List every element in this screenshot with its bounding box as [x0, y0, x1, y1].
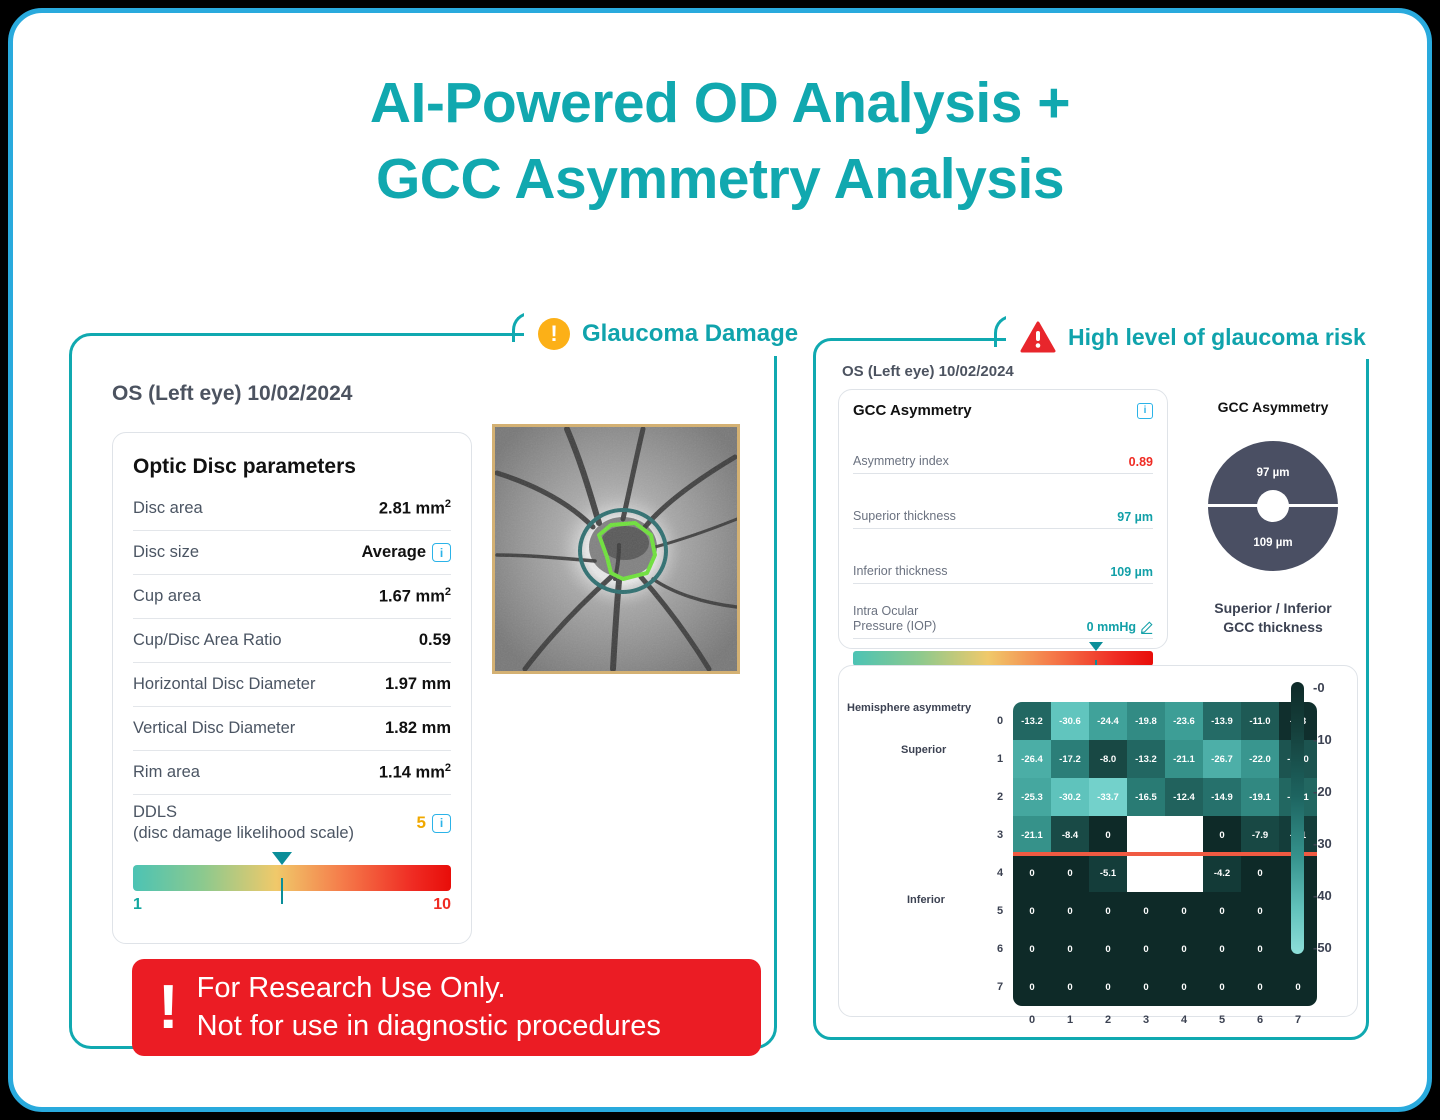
ddls-gradient-slider[interactable]	[133, 865, 451, 891]
heatmap-cell[interactable]: -5.1	[1089, 854, 1127, 892]
right-panel-tab-label: High level of glaucoma risk	[1068, 324, 1366, 351]
heatmap-cell[interactable]: -12.4	[1165, 778, 1203, 816]
gcc-metric-row: Superior thickness97 µm	[853, 474, 1153, 529]
parameter-value: 1.14 mm2	[379, 762, 451, 783]
parameter-value: Average	[361, 543, 426, 562]
left-panel-tab[interactable]: ! Glaucoma Damage	[524, 312, 812, 356]
info-icon-disc-size[interactable]: i	[432, 543, 451, 562]
gcc-metric-value: 0 mmHg	[1087, 620, 1136, 634]
left-eye-date: OS (Left eye) 10/02/2024	[112, 382, 352, 406]
heatmap-cell[interactable]: -8.4	[1051, 816, 1089, 854]
ddls-scale-min: 1	[133, 896, 142, 914]
heatmap-cell[interactable]: 0	[1013, 930, 1051, 968]
gcc-metric-label: Inferior thickness	[853, 564, 947, 579]
parameter-value-group: 0.59	[419, 631, 451, 650]
app-canvas: AI-Powered OD Analysis + GCC Asymmetry A…	[8, 8, 1432, 1112]
heatmap-cell[interactable]: 0	[1127, 892, 1165, 930]
heatmap-cell[interactable]: -19.8	[1127, 702, 1165, 740]
parameter-value-group: 2.81 mm2	[379, 498, 451, 519]
gcc-metric-list: Asymmetry index0.89Superior thickness97 …	[853, 419, 1153, 639]
parameter-value: 0.59	[419, 631, 451, 650]
donut-caption-line-2: GCC thickness	[1188, 618, 1358, 637]
optic-disc-card-title: Optic Disc parameters	[133, 455, 451, 479]
fundus-image-graphic	[495, 427, 737, 671]
optic-disc-parameter-row: Cup/Disc Area Ratio0.59	[133, 619, 451, 663]
heatmap-row-label: 3	[987, 816, 1013, 854]
parameter-unit-exponent: 2	[445, 586, 451, 598]
parameter-label: Rim area	[133, 763, 200, 782]
optic-disc-parameters-card: Optic Disc parameters Disc area2.81 mm2D…	[112, 432, 472, 944]
gcc-card-header: GCC Asymmetry i	[853, 402, 1153, 419]
heatmap-cell[interactable]: -4.2	[1203, 854, 1241, 892]
heatmap-cell[interactable]: -21.1	[1013, 816, 1051, 854]
ddls-label-line-2: (disc damage likelihood scale)	[133, 823, 354, 844]
heatmap-cell[interactable]: 0	[1241, 854, 1279, 892]
parameter-value-group: 1.97 mm	[385, 675, 451, 694]
heatmap-cell[interactable]: -8.0	[1089, 740, 1127, 778]
heatmap-column-label: 2	[1089, 1010, 1127, 1030]
heatmap-inferior-label: Inferior	[907, 894, 945, 906]
ddls-value-group: 5 i	[417, 813, 451, 833]
parameter-value-group: 1.82 mm	[385, 719, 451, 738]
page-title-line-1: AI-Powered OD Analysis +	[13, 65, 1427, 141]
colorbar-tick-label: -40	[1313, 888, 1332, 903]
optic-disc-parameter-row: Disc area2.81 mm2	[133, 487, 451, 531]
heatmap-cell[interactable]: -21.1	[1165, 740, 1203, 778]
optic-disc-parameter-list: Disc area2.81 mm2Disc sizeAverageiCup ar…	[133, 487, 451, 795]
heatmap-cell[interactable]: -14.9	[1203, 778, 1241, 816]
heatmap-cell[interactable]: 0	[1089, 968, 1127, 1006]
heatmap-row-label: 7	[987, 968, 1013, 1006]
ddls-scale-ends: 1 10	[133, 896, 451, 914]
gcc-metric-value: 97 µm	[1117, 510, 1153, 524]
optic-disc-parameter-row: Rim area1.14 mm2	[133, 751, 451, 795]
heatmap-column-label: 4	[1165, 1010, 1203, 1030]
superior-inferior-divider	[1013, 852, 1317, 856]
gcc-slider-marker[interactable]	[1089, 642, 1103, 651]
heatmap-cell[interactable]: 0	[1013, 892, 1051, 930]
superior-inferior-donut-chart[interactable]: 97 µm 109 µm	[1208, 441, 1338, 571]
heatmap-cell[interactable]: 0	[1203, 892, 1241, 930]
right-panel-tab[interactable]: High level of glaucoma risk	[1006, 315, 1380, 359]
gcc-metric-row: Asymmetry index0.89	[853, 419, 1153, 474]
heatmap-cell[interactable]: 0	[1051, 892, 1089, 930]
colorbar-tick-label: -0	[1313, 680, 1325, 695]
left-panel-tab-label: Glaucoma Damage	[582, 320, 798, 348]
ddls-label-line-1: DDLS	[133, 802, 354, 823]
gcc-metric-value-group: 0.89	[1129, 455, 1153, 469]
heatmap-cell[interactable]: 0	[1089, 892, 1127, 930]
right-eye-date: OS (Left eye) 10/02/2024	[842, 363, 1014, 380]
gcc-metric-value: 0.89	[1129, 455, 1153, 469]
glaucoma-risk-panel: High level of glaucoma risk OS (Left eye…	[813, 338, 1369, 1040]
heatmap-row-label: 2	[987, 778, 1013, 816]
heatmap-cell[interactable]: 0	[1051, 854, 1089, 892]
parameter-label: Disc area	[133, 499, 203, 518]
heatmap-cell[interactable]: 0	[1051, 930, 1089, 968]
heatmap-superior-label: Superior	[901, 744, 946, 756]
info-icon-gcc[interactable]: i	[1137, 403, 1153, 419]
donut-caption: Superior / Inferior GCC thickness	[1188, 599, 1358, 637]
heatmap-hemisphere-label: Hemisphere asymmetry	[847, 702, 971, 714]
parameter-value: 2.81 mm2	[379, 498, 451, 519]
heatmap-cell[interactable]: -26.4	[1013, 740, 1051, 778]
parameter-label: Disc size	[133, 543, 199, 562]
heatmap-cell[interactable]: 0	[1203, 930, 1241, 968]
colorbar-tick-label: -30	[1313, 836, 1332, 851]
heatmap-cell[interactable]: 0	[1203, 968, 1241, 1006]
heatmap-cell[interactable]: -19.1	[1241, 778, 1279, 816]
parameter-label: Cup area	[133, 587, 201, 606]
page-title-line-2: GCC Asymmetry Analysis	[13, 141, 1427, 217]
parameter-label: Cup/Disc Area Ratio	[133, 631, 282, 650]
glaucoma-damage-panel: ! Glaucoma Damage OS (Left eye) 10/02/20…	[69, 333, 777, 1049]
heatmap-cell[interactable]: 0	[1127, 930, 1165, 968]
ddls-slider-marker[interactable]	[272, 852, 292, 865]
heatmap-cell[interactable]: 0	[1013, 968, 1051, 1006]
info-icon-ddls[interactable]: i	[432, 814, 451, 833]
gcc-metric-row: Intra OcularPressure (IOP)0 mmHg	[853, 584, 1153, 639]
heatmap-cell[interactable]: -23.6	[1165, 702, 1203, 740]
ddls-row: DDLS (disc damage likelihood scale) 5 i	[133, 795, 451, 851]
pencil-edit-icon[interactable]	[1140, 621, 1153, 634]
gcc-metric-value-group: 97 µm	[1117, 510, 1153, 524]
heatmap-row-label: 4	[987, 854, 1013, 892]
heatmap-column-label: 5	[1203, 1010, 1241, 1030]
heatmap-row-label: 5	[987, 892, 1013, 930]
gcc-metric-value-group: 109 µm	[1110, 565, 1153, 579]
heatmap-cell[interactable]: -33.7	[1089, 778, 1127, 816]
gcc-metric-value: 109 µm	[1110, 565, 1153, 579]
research-use-line-2: Not for use in diagnostic procedures	[197, 1008, 661, 1045]
heatmap-cell[interactable]: 0	[1241, 930, 1279, 968]
optic-disc-parameter-row: Vertical Disc Diameter1.82 mm	[133, 707, 451, 751]
donut-title: GCC Asymmetry	[1188, 399, 1358, 415]
heatmap-cell[interactable]: -25.3	[1013, 778, 1051, 816]
heatmap-cell[interactable]: 0	[1279, 968, 1317, 1006]
ddls-label: DDLS (disc damage likelihood scale)	[133, 802, 354, 843]
heatmap-cell[interactable]: -30.2	[1051, 778, 1089, 816]
ddls-value: 5	[417, 813, 426, 833]
heatmap-cell[interactable]: -24.4	[1089, 702, 1127, 740]
heatmap-cell[interactable]: 0	[1203, 816, 1241, 854]
heatmap-cell[interactable]: -16.5	[1127, 778, 1165, 816]
hemisphere-asymmetry-heatmap-card: Hemisphere asymmetry Superior Inferior -…	[838, 665, 1358, 1017]
optic-disc-parameter-row: Horizontal Disc Diameter1.97 mm	[133, 663, 451, 707]
heatmap-cell[interactable]: 0	[1165, 892, 1203, 930]
heatmap-column-label: 7	[1279, 1010, 1317, 1030]
gcc-donut-section: GCC Asymmetry 97 µm 109 µm Superior / In…	[1188, 399, 1358, 637]
parameter-value: 1.67 mm2	[379, 586, 451, 607]
heatmap-cell[interactable]: 0	[1241, 968, 1279, 1006]
heatmap-cell[interactable]: -11.0	[1241, 702, 1279, 740]
heatmap-cell[interactable]: -13.2	[1127, 740, 1165, 778]
colorbar-tick-label: -20	[1313, 784, 1332, 799]
gcc-metric-label: Intra OcularPressure (IOP)	[853, 604, 936, 634]
heatmap-column-label: 3	[1127, 1010, 1165, 1030]
donut-caption-line-1: Superior / Inferior	[1188, 599, 1358, 618]
heatmap-cell[interactable]: -30.6	[1051, 702, 1089, 740]
heatmap-row-label: 1	[987, 740, 1013, 778]
optic-disc-parameter-row: Cup area1.67 mm2	[133, 575, 451, 619]
warning-triangle-icon	[1020, 321, 1056, 353]
exclamation-mark-icon: !	[158, 983, 179, 1033]
exclamation-circle-icon: !	[538, 318, 570, 350]
ddls-scale-max: 10	[433, 896, 451, 914]
parameter-value-group: Averagei	[361, 543, 451, 562]
heatmap-cell[interactable]: -22.0	[1241, 740, 1279, 778]
gcc-card-title: GCC Asymmetry	[853, 402, 972, 419]
parameter-unit-exponent: 2	[445, 498, 451, 510]
heatmap-cell[interactable]: 0	[1089, 930, 1127, 968]
donut-center-hole	[1257, 490, 1289, 522]
parameter-label: Horizontal Disc Diameter	[133, 675, 315, 694]
donut-inferior-value: 109 µm	[1208, 537, 1338, 549]
gcc-metric-label: Superior thickness	[853, 509, 956, 524]
heatmap-cell[interactable]: -13.2	[1013, 702, 1051, 740]
gcc-risk-gradient-slider[interactable]	[853, 651, 1153, 666]
colorbar-tick-label: -10	[1313, 732, 1332, 747]
heatmap-column-label: 0	[1013, 1010, 1051, 1030]
research-use-line-1: For Research Use Only.	[197, 970, 661, 1007]
parameter-value-group: 1.14 mm2	[379, 762, 451, 783]
gcc-metric-row: Inferior thickness109 µm	[853, 529, 1153, 584]
heatmap-cell[interactable]: 0	[1013, 854, 1051, 892]
parameter-value: 1.97 mm	[385, 675, 451, 694]
heatmap-cell[interactable]: 0	[1165, 968, 1203, 1006]
heatmap-cell[interactable]: 0	[1241, 892, 1279, 930]
heatmap-cell[interactable]: -7.9	[1241, 816, 1279, 854]
parameter-value-group: 1.67 mm2	[379, 586, 451, 607]
heatmap-cell[interactable]: 0	[1089, 816, 1127, 854]
heatmap-cell[interactable]: 0	[1051, 968, 1089, 1006]
gcc-metric-value-group: 0 mmHg	[1087, 620, 1153, 634]
heatmap-cell[interactable]: -13.9	[1203, 702, 1241, 740]
fundus-image[interactable]	[492, 424, 740, 674]
heatmap-row-label: 0	[987, 702, 1013, 740]
heatmap-cell[interactable]: -17.2	[1051, 740, 1089, 778]
parameter-label: Vertical Disc Diameter	[133, 719, 295, 738]
heatmap-cell[interactable]: -26.7	[1203, 740, 1241, 778]
heatmap-column-label: 6	[1241, 1010, 1279, 1030]
parameter-value: 1.82 mm	[385, 719, 451, 738]
donut-superior-value: 97 µm	[1208, 467, 1338, 479]
heatmap-cell[interactable]: 0	[1127, 968, 1165, 1006]
gcc-asymmetry-card: GCC Asymmetry i Asymmetry index0.89Super…	[838, 389, 1168, 649]
heatmap-colorbar	[1291, 682, 1304, 954]
gcc-metric-label: Asymmetry index	[853, 454, 949, 469]
parameter-unit-exponent: 2	[445, 762, 451, 774]
colorbar-tick-label: -50	[1313, 940, 1332, 955]
research-use-banner: ! For Research Use Only. Not for use in …	[132, 959, 761, 1056]
heatmap-cell[interactable]: 0	[1165, 930, 1203, 968]
heatmap-row-label: 6	[987, 930, 1013, 968]
research-use-text: For Research Use Only. Not for use in di…	[197, 970, 661, 1044]
heatmap-column-label: 1	[1051, 1010, 1089, 1030]
page-title: AI-Powered OD Analysis + GCC Asymmetry A…	[13, 65, 1427, 218]
optic-disc-parameter-row: Disc sizeAveragei	[133, 531, 451, 575]
